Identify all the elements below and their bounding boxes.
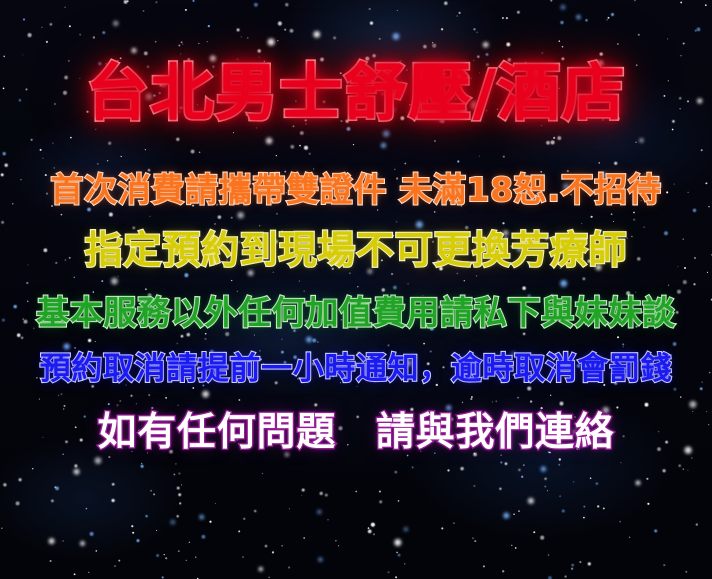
poster-title: 台北男士舒壓/酒店 <box>0 62 712 124</box>
notice-line-no-swap-therapist: 指定預約到現場不可更換芳療師 <box>0 231 712 269</box>
poster-text-block: 台北男士舒壓/酒店 首次消費請攜帶雙證件 未滿18恕.不招待 指定預約到現場不可… <box>0 0 712 579</box>
notice-line-contact-us: 如有任何問題 請與我們連絡 <box>0 413 712 452</box>
notice-line-cancellation-policy: 預約取消請提前一小時通知，逾時取消會罰錢 <box>0 354 712 385</box>
notice-line-age-id: 首次消費請攜帶雙證件 未滿18恕.不招待 <box>0 173 712 206</box>
notice-line-extra-fees: 基本服務以外任何加值費用請私下與妹妹談 <box>0 296 712 329</box>
poster-canvas: 台北男士舒壓/酒店 首次消費請攜帶雙證件 未滿18恕.不招待 指定預約到現場不可… <box>0 0 712 579</box>
